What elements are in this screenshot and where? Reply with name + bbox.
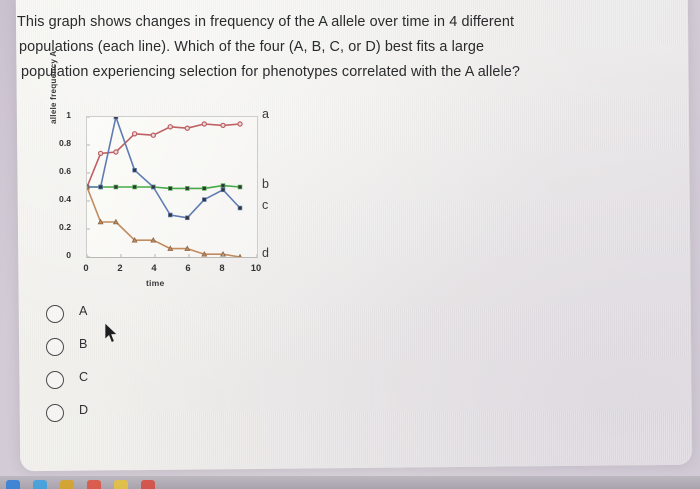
plot-area	[86, 116, 258, 258]
data-point	[221, 123, 225, 127]
question-text: This graph shows changes in frequency of…	[17, 10, 657, 85]
y-tick-label: 1	[66, 110, 71, 120]
data-point	[238, 185, 242, 189]
series-label-d: d	[262, 246, 269, 260]
data-point	[168, 213, 172, 217]
series-d	[87, 185, 242, 257]
radio-button-d[interactable]	[46, 404, 64, 422]
data-point	[99, 151, 103, 155]
dock-icon-3[interactable]	[60, 480, 74, 489]
option-label-b: B	[79, 337, 87, 351]
y-tick-label: 0.2	[59, 222, 71, 232]
data-point	[202, 122, 206, 126]
dock-icon-1[interactable]	[6, 480, 20, 489]
data-point	[221, 188, 225, 192]
data-point	[238, 206, 242, 210]
option-label-c: C	[79, 370, 88, 384]
data-point	[202, 198, 206, 202]
series-label-c: c	[262, 198, 268, 212]
data-point	[114, 150, 118, 154]
y-axis-label: allele frequency A	[49, 51, 58, 124]
x-tick-label: 10	[246, 262, 266, 273]
data-point	[168, 125, 172, 129]
data-point	[99, 185, 103, 189]
data-point	[151, 133, 155, 137]
option-label-d: D	[79, 403, 88, 417]
dock-icon-2[interactable]	[33, 480, 47, 489]
data-point	[114, 185, 118, 189]
data-point	[151, 185, 155, 189]
data-point	[185, 216, 189, 220]
allele-frequency-chart: allele frequency A 00.20.40.60.81 024681…	[40, 96, 290, 296]
plot-svg	[87, 117, 257, 257]
series-c	[87, 117, 242, 220]
question-line: population experiencing selection for ph…	[17, 60, 657, 85]
data-point	[133, 168, 137, 172]
option-label-a: A	[79, 304, 87, 318]
series-a	[87, 122, 242, 189]
x-axis-label: time	[146, 278, 164, 288]
data-point	[185, 187, 189, 191]
y-tick-label: 0	[66, 250, 71, 260]
dock-icon-5[interactable]	[114, 480, 128, 489]
series-b	[87, 184, 242, 191]
data-point	[238, 122, 242, 126]
data-point	[221, 184, 225, 188]
radio-button-b[interactable]	[46, 338, 64, 356]
data-point	[202, 187, 206, 191]
data-point	[114, 117, 118, 119]
data-point	[185, 126, 189, 130]
question-line: This graph shows changes in frequency of…	[17, 10, 657, 35]
data-point	[133, 132, 137, 136]
data-point	[133, 185, 137, 189]
y-tick-label: 0.8	[59, 138, 71, 148]
taskbar[interactable]	[0, 476, 700, 489]
x-tick-label: 2	[110, 262, 130, 273]
question-line: populations (each line). Which of the fo…	[17, 35, 657, 60]
series-label-a: a	[262, 107, 269, 121]
x-tick-label: 0	[76, 262, 96, 273]
radio-button-a[interactable]	[46, 305, 64, 323]
mouse-cursor-icon	[104, 323, 119, 344]
radio-button-c[interactable]	[46, 371, 64, 389]
y-tick-label: 0.4	[59, 194, 71, 204]
x-tick-label: 6	[178, 262, 198, 273]
page-content: This graph shows changes in frequency of…	[0, 0, 700, 489]
dock-icon-4[interactable]	[87, 480, 101, 489]
y-tick-label: 0.6	[59, 166, 71, 176]
x-tick-label: 8	[212, 262, 232, 273]
series-label-b: b	[262, 177, 269, 191]
dock-icon-6[interactable]	[141, 480, 155, 489]
x-tick-label: 4	[144, 262, 164, 273]
data-point	[168, 187, 172, 191]
